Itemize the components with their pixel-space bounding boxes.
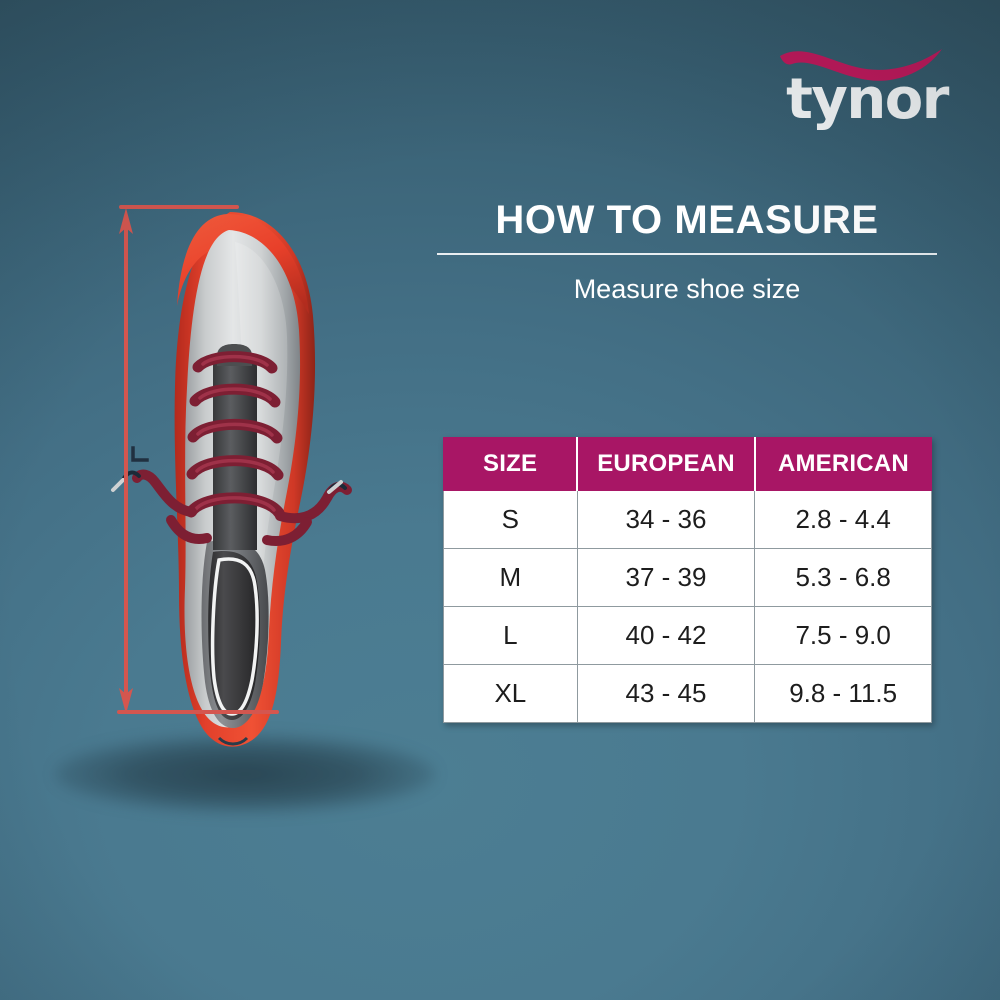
table-row: S 34 - 36 2.8 - 4.4 <box>444 491 932 549</box>
brand-logo: tynor <box>762 34 972 149</box>
column-header-european: EUROPEAN <box>577 438 755 491</box>
table-header-row: SIZE EUROPEAN AMERICAN <box>444 438 932 491</box>
cell-size: M <box>444 549 578 607</box>
cell-european: 34 - 36 <box>577 491 755 549</box>
cell-american: 5.3 - 6.8 <box>755 549 932 607</box>
cell-size: S <box>444 491 578 549</box>
size-guide-canvas: tynor HOW TO MEASURE Measure shoe size <box>0 0 1000 1000</box>
title-divider <box>437 253 937 255</box>
shoe-illustration <box>95 190 395 810</box>
cell-american: 7.5 - 9.0 <box>755 607 932 665</box>
column-header-american: AMERICAN <box>755 438 932 491</box>
table-row: M 37 - 39 5.3 - 6.8 <box>444 549 932 607</box>
page-title: HOW TO MEASURE <box>437 198 937 243</box>
cell-european: 37 - 39 <box>577 549 755 607</box>
column-header-size: SIZE <box>444 438 578 491</box>
size-chart-container: SIZE EUROPEAN AMERICAN S 34 - 36 2.8 - 4… <box>443 437 932 723</box>
heading-block: HOW TO MEASURE Measure shoe size <box>437 198 937 305</box>
table-row: L 40 - 42 7.5 - 9.0 <box>444 607 932 665</box>
cell-american: 9.8 - 11.5 <box>755 665 932 723</box>
cell-size: L <box>444 607 578 665</box>
measurement-annotation <box>95 190 395 810</box>
table-row: XL 43 - 45 9.8 - 11.5 <box>444 665 932 723</box>
cell-european: 40 - 42 <box>577 607 755 665</box>
cell-size: XL <box>444 665 578 723</box>
brand-wordmark: tynor <box>762 72 972 128</box>
cell-european: 43 - 45 <box>577 665 755 723</box>
page-subtitle: Measure shoe size <box>437 273 937 305</box>
cell-american: 2.8 - 4.4 <box>755 491 932 549</box>
shoe-size-table: SIZE EUROPEAN AMERICAN S 34 - 36 2.8 - 4… <box>443 437 932 723</box>
